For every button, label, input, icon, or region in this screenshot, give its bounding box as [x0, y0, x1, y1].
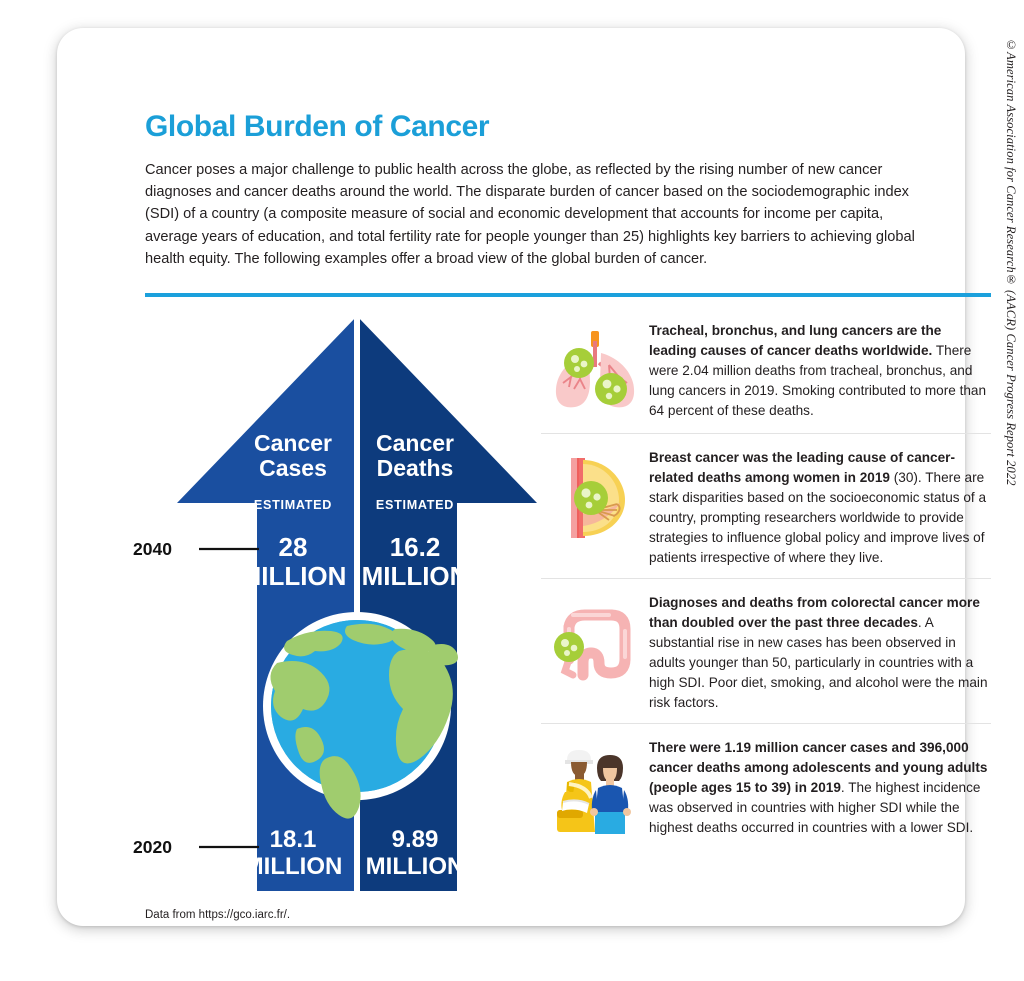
fact-text: There were 1.19 million cancer cases and… [649, 736, 991, 838]
page-title: Global Burden of Cancer [145, 110, 489, 144]
list-item: Breast cancer was the leading cause of c… [541, 433, 991, 578]
breast-icon [541, 446, 649, 550]
young-adults-icon [541, 736, 649, 840]
year-label-2020: 2020 [133, 837, 172, 858]
lungs-icon [541, 319, 649, 423]
fact-text: Diagnoses and deaths from colorectal can… [649, 591, 991, 713]
header-divider-rule [145, 293, 991, 297]
fact-text: Tracheal, bronchus, and lung cancers are… [649, 319, 991, 421]
colon-icon [541, 591, 649, 695]
fact-list: Tracheal, bronchus, and lung cancers are… [541, 319, 991, 850]
list-item: Diagnoses and deaths from colorectal can… [541, 578, 991, 723]
intro-paragraph: Cancer poses a major challenge to public… [145, 159, 935, 270]
list-item: Tracheal, bronchus, and lung cancers are… [541, 319, 991, 433]
year-label-2040: 2040 [133, 539, 172, 560]
fact-text: Breast cancer was the leading cause of c… [649, 446, 991, 568]
fact-headline: Tracheal, bronchus, and lung cancers are… [649, 323, 941, 358]
copyright-notice: ©American Association for Cancer Researc… [1003, 38, 1018, 486]
list-item: There were 1.19 million cancer cases and… [541, 723, 991, 850]
infographic-page: ©American Association for Cancer Researc… [0, 0, 1024, 981]
arrow-chart-graphic [137, 311, 537, 926]
infographic-card: Global Burden of Cancer Cancer poses a m… [57, 28, 965, 926]
arrow-chart: Cancer Cases ESTIMATED 28 MILLION 18.1 M… [137, 311, 537, 926]
source-note: Data from https://gco.iarc.fr/. [145, 909, 290, 921]
